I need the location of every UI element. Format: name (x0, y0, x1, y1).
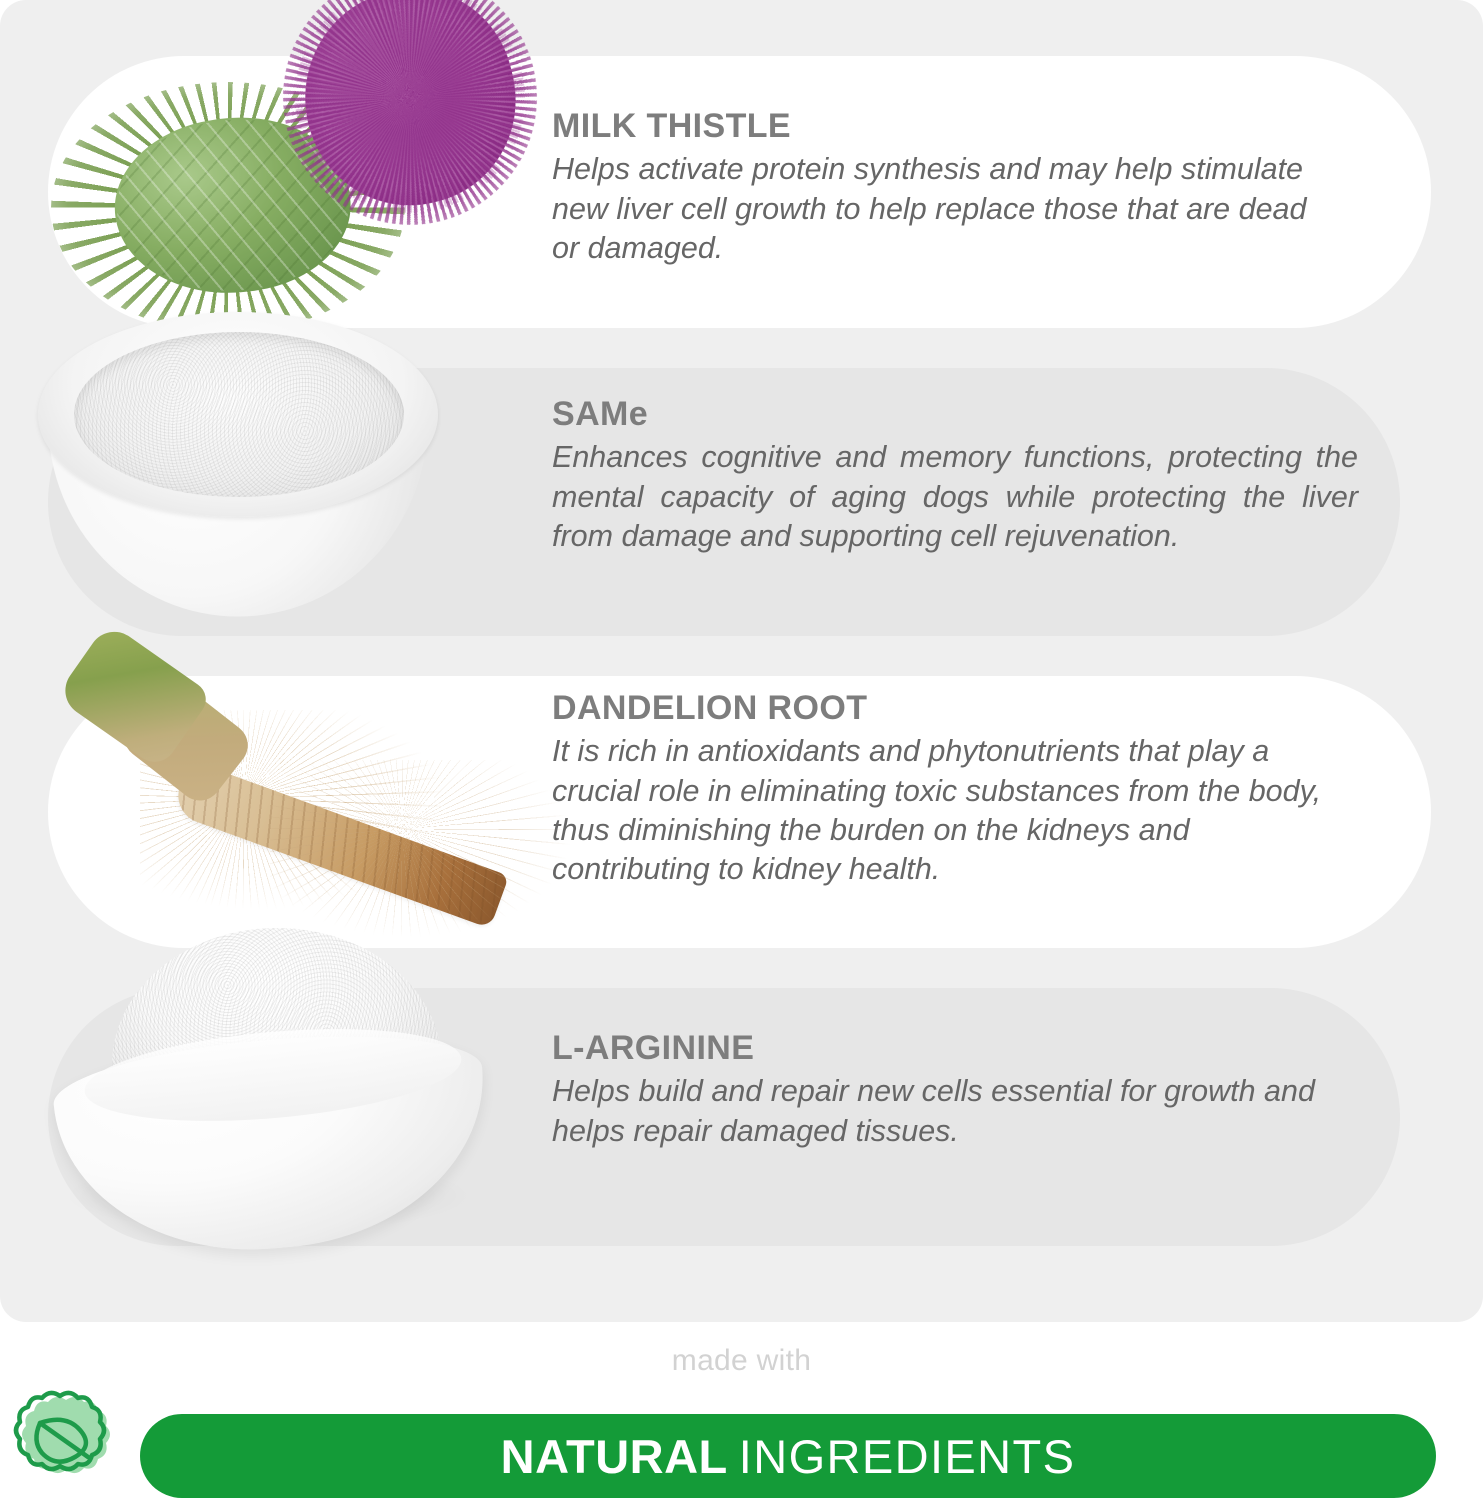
same-white-powder (74, 332, 404, 497)
ingredient-text-same: SAMe Enhances cognitive and memory funct… (552, 396, 1358, 556)
ingredient-description: Enhances cognitive and memory functions,… (552, 438, 1358, 556)
ingredient-text-milk-thistle: MILK THISTLE Helps activate protein synt… (552, 108, 1327, 268)
ingredient-text-dandelion-root: DANDELION ROOT It is rich in antioxidant… (552, 690, 1327, 890)
ingredient-title: DANDELION ROOT (552, 690, 1327, 727)
same-powder-bowl-photo (38, 312, 438, 680)
ingredient-title: L-ARGININE (552, 1030, 1327, 1067)
ingredient-title: MILK THISTLE (552, 108, 1327, 145)
leaf-badge-icon (4, 1390, 122, 1500)
banner-light-text: INGREDIENTS (739, 1429, 1076, 1484)
l-arginine-powder-bowl-photo (58, 928, 503, 1248)
ingredient-title: SAMe (552, 396, 1358, 433)
ingredient-description: Helps build and repair new cells essenti… (552, 1072, 1327, 1151)
made-with-label: made with (0, 1344, 1483, 1378)
ingredient-description: It is rich in antioxidants and phytonutr… (552, 732, 1327, 889)
ingredient-text-l-arginine: L-ARGININE Helps build and repair new ce… (552, 1030, 1327, 1151)
ingredient-description: Helps activate protein synthesis and may… (552, 150, 1327, 268)
banner-strong-text: NATURAL (501, 1429, 728, 1484)
natural-ingredients-banner: NATURAL INGREDIENTS (140, 1414, 1436, 1498)
